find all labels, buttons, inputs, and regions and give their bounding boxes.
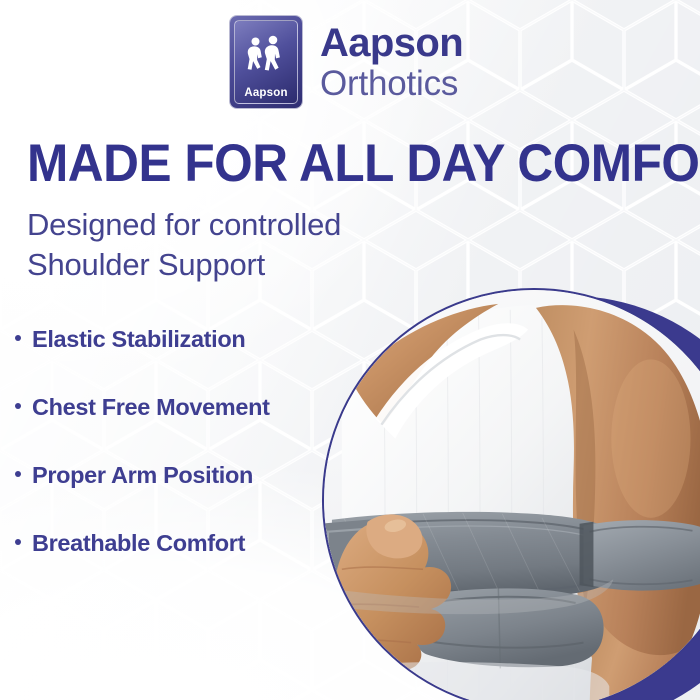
list-item: Elastic Stabilization xyxy=(15,326,355,394)
two-walking-figures-icon xyxy=(240,34,292,86)
subheadline-line-1: Designed for controlled xyxy=(27,205,341,245)
subheadline-line-2: Shoulder Support xyxy=(27,245,341,285)
logo-badge-inner: Aapson xyxy=(234,20,298,104)
brand-subtitle: Orthotics xyxy=(320,66,463,101)
list-item: Proper Arm Position xyxy=(15,462,355,530)
feature-label: Breathable Comfort xyxy=(32,530,245,557)
brand-header: Aapson Aapson Orthotics xyxy=(230,16,463,108)
headline: MADE FOR ALL DAY COMFORT xyxy=(27,137,625,190)
feature-label: Proper Arm Position xyxy=(32,462,253,489)
bullet-dot-icon xyxy=(15,403,21,409)
logo-badge-text: Aapson xyxy=(244,88,287,100)
feature-label: Chest Free Movement xyxy=(32,394,270,421)
product-photo-image xyxy=(324,290,700,700)
brand-name: Aapson xyxy=(320,23,463,63)
bullet-dot-icon xyxy=(15,335,21,341)
brand-text-block: Aapson Orthotics xyxy=(320,23,463,101)
logo-badge: Aapson xyxy=(230,16,302,108)
list-item: Breathable Comfort xyxy=(15,530,355,598)
feature-label: Elastic Stabilization xyxy=(32,326,245,353)
bullet-dot-icon xyxy=(15,539,21,545)
product-photo-circle xyxy=(322,288,700,700)
subheadline: Designed for controlled Shoulder Support xyxy=(27,205,341,284)
advertisement-canvas: Aapson Aapson Orthotics MADE FOR ALL DAY… xyxy=(0,0,700,700)
list-item: Chest Free Movement xyxy=(15,394,355,462)
bullet-dot-icon xyxy=(15,471,21,477)
feature-list: Elastic Stabilization Chest Free Movemen… xyxy=(15,326,355,598)
